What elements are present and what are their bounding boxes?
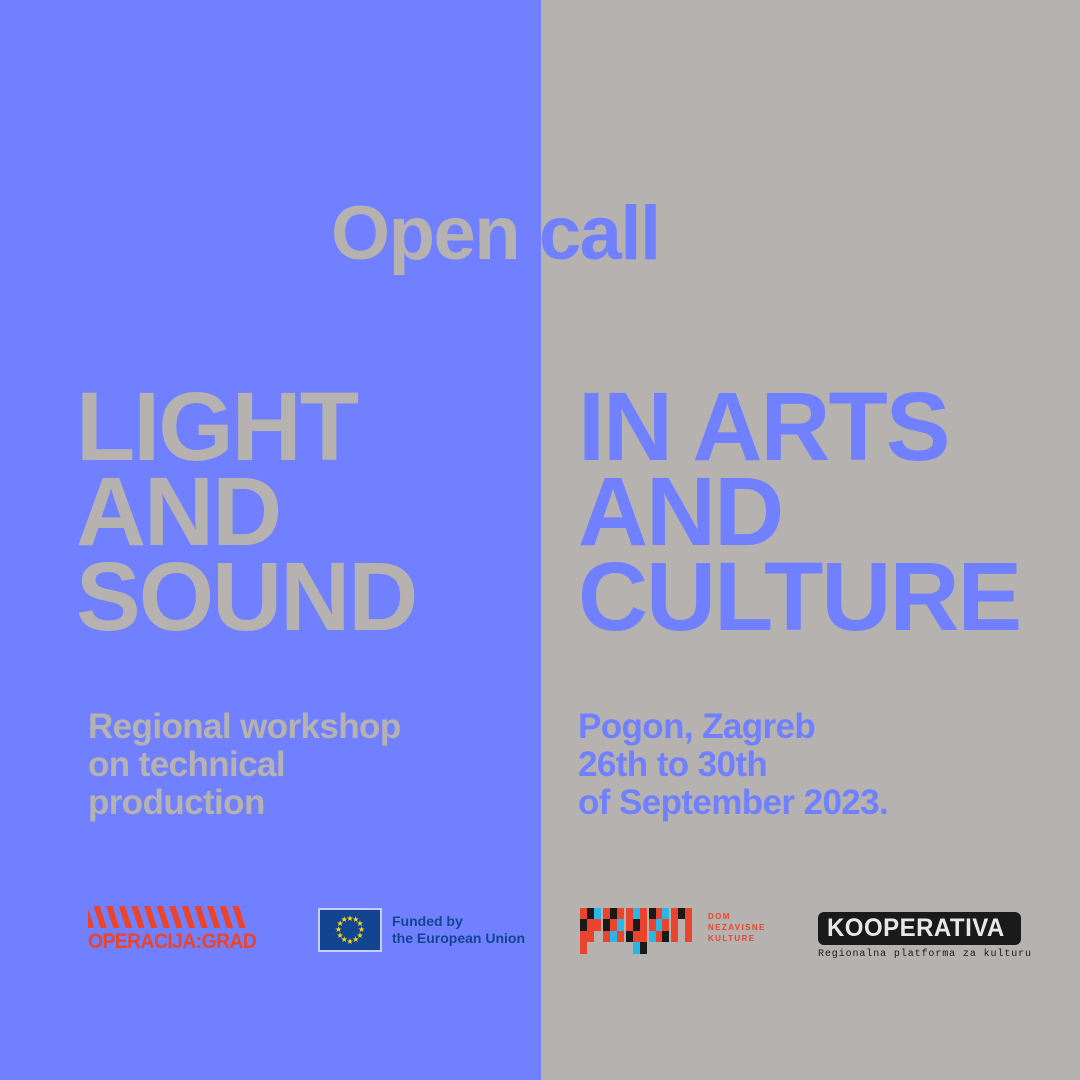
pogon-block — [685, 908, 692, 919]
pogon-block — [610, 931, 617, 942]
logo-european-union: ★★★★★★★★★★★★ Funded by the European Unio… — [318, 908, 525, 952]
pogon-block — [656, 908, 663, 919]
pogon-block — [617, 908, 624, 919]
pogon-block — [594, 919, 601, 930]
pogon-block — [587, 931, 594, 942]
kooperativa-tagline: Regionalna platforma za kulturu — [818, 949, 988, 960]
headline-right: IN ARTS AND CULTURE — [578, 384, 1020, 639]
pogon-block — [603, 919, 610, 930]
pogon-caption: DOM NEZAVISNE KULTURE — [708, 911, 766, 944]
poster-canvas: Open call Open call LIGHT AND SOUND IN A… — [0, 0, 1080, 1080]
pogon-block — [617, 931, 624, 942]
details-right-venue-dates: Pogon, Zagreb 26th to 30th of September … — [578, 708, 888, 822]
details-left-workshop: Regional workshop on technical productio… — [88, 708, 401, 822]
pogon-block — [662, 908, 669, 919]
eyebrow-open-call: Open call Open call — [0, 184, 1080, 284]
pogon-block — [640, 942, 647, 953]
pogon-block — [633, 919, 640, 930]
pogon-block — [633, 931, 640, 942]
pogon-block — [603, 908, 610, 919]
pogon-block — [671, 931, 678, 942]
pogon-block — [610, 919, 617, 930]
pogon-block — [662, 931, 669, 942]
pogon-block — [626, 931, 633, 942]
pogon-block — [633, 942, 640, 953]
logo-pogon: DOM NEZAVISNE KULTURE — [580, 908, 766, 952]
pogon-block — [640, 919, 647, 930]
pogon-block — [685, 919, 692, 930]
operacija-grad-wordmark: OPERACIJA:GRAD — [88, 930, 233, 954]
pogon-block — [633, 908, 640, 919]
pogon-block — [671, 908, 678, 919]
pogon-block — [685, 931, 692, 942]
eu-star-icon: ★ — [340, 916, 348, 924]
logo-row: OPERACIJA:GRAD ★★★★★★★★★★★★ Funded by th… — [0, 898, 1080, 978]
kooperativa-wordmark: KOOPERATIVA — [827, 915, 1005, 941]
pogon-block — [656, 931, 663, 942]
pogon-block — [649, 908, 656, 919]
pogon-block — [617, 919, 624, 930]
pogon-block — [671, 919, 678, 930]
pogon-block — [580, 942, 587, 953]
pogon-block — [649, 931, 656, 942]
pogon-block — [587, 908, 594, 919]
diagonal-stripes-icon — [88, 906, 246, 928]
pogon-block — [587, 919, 594, 930]
kooperativa-badge: KOOPERATIVA — [818, 912, 1021, 945]
pogon-block — [594, 908, 601, 919]
logo-operacija-grad: OPERACIJA:GRAD — [88, 906, 246, 954]
pogon-wordmark-icon — [580, 908, 698, 952]
pogon-block — [580, 908, 587, 919]
pogon-block — [580, 931, 587, 942]
pogon-block — [640, 908, 647, 919]
pogon-block — [649, 919, 656, 930]
logo-kooperativa: KOOPERATIVA Regionalna platforma za kult… — [818, 912, 988, 960]
eu-flag-icon: ★★★★★★★★★★★★ — [318, 908, 382, 952]
pogon-block — [656, 919, 663, 930]
pogon-block — [662, 919, 669, 930]
pogon-block — [610, 908, 617, 919]
pogon-block — [626, 919, 633, 930]
pogon-block — [678, 908, 685, 919]
eu-funding-caption: Funded by the European Union — [392, 913, 525, 947]
pogon-block — [603, 931, 610, 942]
pogon-block — [640, 931, 647, 942]
pogon-block — [580, 919, 587, 930]
pogon-block — [626, 908, 633, 919]
headline-left: LIGHT AND SOUND — [76, 384, 416, 639]
